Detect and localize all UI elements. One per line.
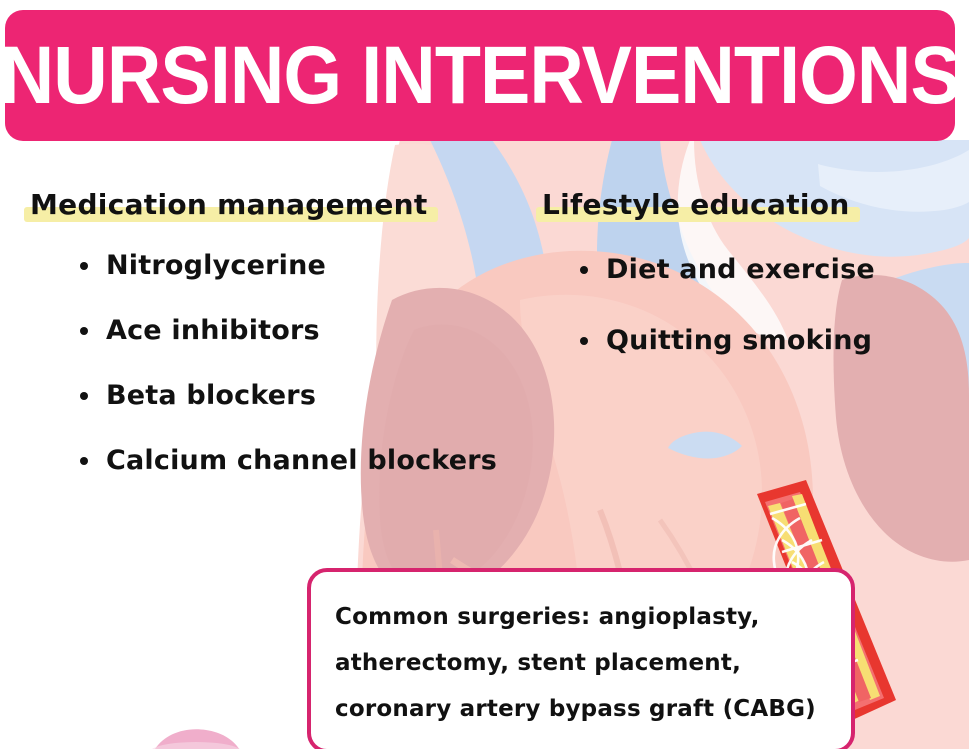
list-item: Beta blockers	[72, 380, 554, 411]
list-item-label: Diet and exercise	[606, 254, 875, 285]
list-item: Calcium channel blockers	[72, 445, 554, 476]
callout-line: coronary artery bypass graft (CABG)	[335, 686, 827, 732]
lifestyle-bullet-list: Diet and exercise Quitting smoking	[572, 254, 956, 356]
list-item: Diet and exercise	[572, 254, 956, 285]
bullet-dot-icon	[80, 327, 88, 335]
medication-bullet-list: Nitroglycerine Ace inhibitors Beta block…	[72, 250, 554, 476]
bullet-dot-icon	[80, 457, 88, 465]
bullet-dot-icon	[80, 262, 88, 270]
column-lifestyle-education: Lifestyle education Diet and exercise Qu…	[536, 188, 956, 396]
heading-lifestyle-education: Lifestyle education	[536, 188, 856, 224]
list-item: Ace inhibitors	[72, 315, 554, 346]
column-medication-management: Medication management Nitroglycerine Ace…	[24, 188, 554, 510]
list-item-label: Quitting smoking	[606, 325, 872, 356]
heading-label: Medication management	[30, 188, 428, 221]
callout-line: Common surgeries: angioplasty,	[335, 594, 827, 640]
list-item: Nitroglycerine	[72, 250, 554, 281]
list-item-label: Ace inhibitors	[106, 315, 320, 346]
list-item-label: Calcium channel blockers	[106, 445, 497, 476]
heading-label: Lifestyle education	[542, 188, 850, 221]
list-item: Quitting smoking	[572, 325, 956, 356]
common-surgeries-callout: Common surgeries: angioplasty, atherecto…	[307, 568, 855, 749]
infographic-page: NURSING INTERVENTIONS Medication managem…	[0, 0, 969, 749]
bullet-dot-icon	[80, 392, 88, 400]
list-item-label: Beta blockers	[106, 380, 316, 411]
bullet-dot-icon	[580, 337, 588, 345]
bullet-dot-icon	[580, 266, 588, 274]
heading-medication-management: Medication management	[24, 188, 434, 224]
list-item-label: Nitroglycerine	[106, 250, 326, 281]
callout-line: atherectomy, stent placement,	[335, 640, 827, 686]
